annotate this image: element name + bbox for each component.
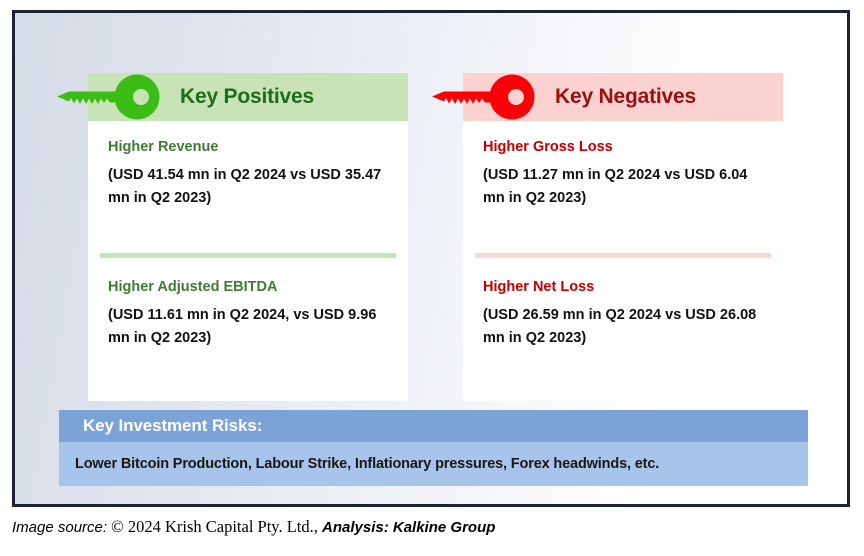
key-icon bbox=[55, 74, 163, 120]
item-title: Higher Adjusted EBITDA bbox=[108, 279, 388, 296]
infographic-frame: Key Positives Higher Revenue (USD 41.54 … bbox=[12, 10, 850, 507]
item-title: Higher Gross Loss bbox=[483, 139, 763, 156]
list-item: Higher Gross Loss (USD 11.27 mn in Q2 20… bbox=[463, 121, 783, 261]
item-divider bbox=[100, 253, 396, 258]
list-item: Higher Adjusted EBITDA (USD 11.61 mn in … bbox=[88, 261, 408, 401]
list-item: Higher Revenue (USD 41.54 mn in Q2 2024 … bbox=[88, 121, 408, 261]
key-positives-column: Key Positives Higher Revenue (USD 41.54 … bbox=[88, 73, 408, 401]
list-item: Higher Net Loss (USD 26.59 mn in Q2 2024… bbox=[463, 261, 783, 401]
risks-heading: Key Investment Risks: bbox=[83, 416, 262, 436]
item-detail: (USD 41.54 mn in Q2 2024 vs USD 35.47 mn… bbox=[108, 164, 388, 210]
item-detail: (USD 11.61 mn in Q2 2024, vs USD 9.96 mn… bbox=[108, 304, 388, 350]
key-positives-title: Key Positives bbox=[180, 85, 314, 109]
key-negatives-column: Key Negatives Higher Gross Loss (USD 11.… bbox=[463, 73, 783, 401]
caption-middle: © 2024 Krish Capital Pty. Ltd., bbox=[107, 517, 322, 536]
key-negatives-header: Key Negatives bbox=[463, 73, 783, 121]
key-positives-body: Higher Revenue (USD 41.54 mn in Q2 2024 … bbox=[88, 121, 408, 401]
risks-text: Lower Bitcoin Production, Labour Strike,… bbox=[75, 456, 659, 472]
key-icon bbox=[430, 74, 538, 120]
item-detail: (USD 26.59 mn in Q2 2024 vs USD 26.08 mn… bbox=[483, 304, 763, 350]
item-title: Higher Net Loss bbox=[483, 279, 763, 296]
item-divider bbox=[475, 253, 771, 258]
key-investment-risks-banner: Key Investment Risks: Lower Bitcoin Prod… bbox=[59, 410, 808, 486]
image-source-caption: Image source: © 2024 Krish Capital Pty. … bbox=[12, 517, 852, 537]
item-detail: (USD 11.27 mn in Q2 2024 vs USD 6.04 mn … bbox=[483, 164, 763, 210]
key-negatives-title: Key Negatives bbox=[555, 85, 696, 109]
caption-lead: Image source: bbox=[12, 519, 107, 536]
key-positives-header: Key Positives bbox=[88, 73, 408, 121]
item-title: Higher Revenue bbox=[108, 139, 388, 156]
key-negatives-body: Higher Gross Loss (USD 11.27 mn in Q2 20… bbox=[463, 121, 783, 401]
caption-analysis: Analysis: Kalkine Group bbox=[322, 519, 495, 536]
risks-header: Key Investment Risks: bbox=[59, 410, 808, 442]
risks-body: Lower Bitcoin Production, Labour Strike,… bbox=[59, 442, 808, 486]
